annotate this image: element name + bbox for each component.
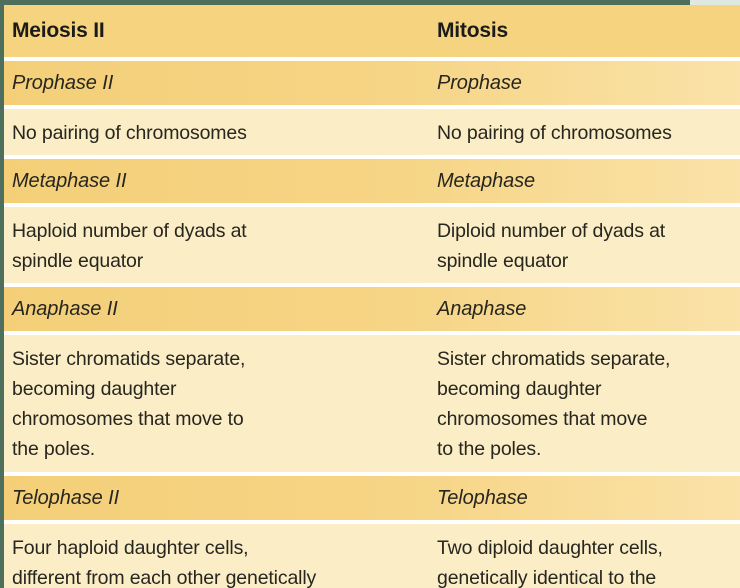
description-text: Diploid number of dyads at spindle equat… xyxy=(437,216,665,276)
phase-label: Prophase II xyxy=(12,72,113,95)
cell-meiosis-description: Four haploid daughter cells, different f… xyxy=(0,524,425,588)
table-header-row: Meiosis II Mitosis xyxy=(0,5,740,57)
phase-label: Telophase II xyxy=(12,487,119,510)
cell-meiosis-phase: Metaphase II xyxy=(0,159,425,203)
cell-meiosis-description: No pairing of chromosomes xyxy=(0,109,425,155)
cell-mitosis-description: Sister chromatids separate, becoming dau… xyxy=(425,335,740,472)
table-row-phase-telophase: Telophase II Telophase xyxy=(0,476,740,520)
table-row-phase-metaphase: Metaphase II Metaphase xyxy=(0,159,740,203)
cell-meiosis-description: Haploid number of dyads at spindle equat… xyxy=(0,207,425,283)
phase-label: Prophase xyxy=(437,72,522,95)
description-text: Sister chromatids separate, becoming dau… xyxy=(12,344,245,464)
cell-meiosis-phase: Prophase II xyxy=(0,61,425,105)
table-row-description-telophase: Four haploid daughter cells, different f… xyxy=(0,524,740,588)
phase-label: Telophase xyxy=(437,487,528,510)
column-header-label: Meiosis II xyxy=(12,19,105,43)
description-text: Sister chromatids separate, becoming dau… xyxy=(437,344,670,464)
table-row-description-anaphase: Sister chromatids separate, becoming dau… xyxy=(0,335,740,472)
cell-mitosis-phase: Telophase xyxy=(425,476,740,520)
phase-label: Metaphase xyxy=(437,170,535,193)
comparison-table-figure: Meiosis II Mitosis Prophase II Prophase … xyxy=(0,0,740,588)
cell-mitosis-phase: Anaphase xyxy=(425,287,740,331)
table-row-phase-prophase: Prophase II Prophase xyxy=(0,61,740,105)
cell-meiosis-phase: Telophase II xyxy=(0,476,425,520)
column-header-mitosis: Mitosis xyxy=(425,5,740,57)
cell-mitosis-description: Diploid number of dyads at spindle equat… xyxy=(425,207,740,283)
cell-mitosis-description: Two diploid daughter cells, genetically … xyxy=(425,524,740,588)
cell-meiosis-phase: Anaphase II xyxy=(0,287,425,331)
cell-mitosis-phase: Prophase xyxy=(425,61,740,105)
phase-label: Anaphase xyxy=(437,298,526,321)
top-border-stripe xyxy=(0,0,690,5)
description-text: Two diploid daughter cells, genetically … xyxy=(437,533,663,588)
description-text: No pairing of chromosomes xyxy=(437,118,672,148)
description-text: No pairing of chromosomes xyxy=(12,118,247,148)
phase-label: Anaphase II xyxy=(12,298,118,321)
table-row-description-prophase: No pairing of chromosomes No pairing of … xyxy=(0,109,740,155)
description-text: Haploid number of dyads at spindle equat… xyxy=(12,216,247,276)
table-row-description-metaphase: Haploid number of dyads at spindle equat… xyxy=(0,207,740,283)
meiosis-mitosis-comparison-table: Meiosis II Mitosis Prophase II Prophase … xyxy=(0,5,740,588)
description-text: Four haploid daughter cells, different f… xyxy=(12,533,316,588)
phase-label: Metaphase II xyxy=(12,170,126,193)
left-border-stripe xyxy=(0,0,4,588)
cell-meiosis-description: Sister chromatids separate, becoming dau… xyxy=(0,335,425,472)
top-border-stripe-right xyxy=(690,0,740,5)
table-row-phase-anaphase: Anaphase II Anaphase xyxy=(0,287,740,331)
column-header-label: Mitosis xyxy=(437,19,508,43)
column-header-meiosis-ii: Meiosis II xyxy=(0,5,425,57)
cell-mitosis-phase: Metaphase xyxy=(425,159,740,203)
cell-mitosis-description: No pairing of chromosomes xyxy=(425,109,740,155)
